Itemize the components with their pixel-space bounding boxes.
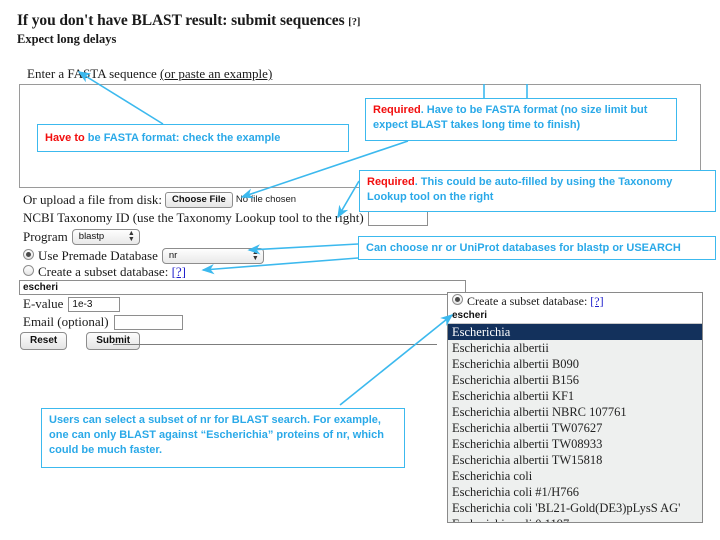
autocomplete-option[interactable]: Escherichia albertii B156 <box>448 372 702 388</box>
autocomplete-option[interactable]: Escherichia coli <box>448 468 702 484</box>
program-row: Programblastp▲▼ <box>23 229 140 245</box>
taxonomy-id-input[interactable] <box>368 211 428 226</box>
popup-subset-header: Create a subset database: [?] <box>448 293 702 309</box>
annotation-database-choice: Can choose nr or UniProt databases for b… <box>358 236 716 260</box>
annotation-required-taxonomy: Required. This could be auto-filled by u… <box>359 170 716 212</box>
program-select[interactable]: blastp▲▼ <box>72 229 140 245</box>
email-row: Email (optional) <box>23 314 183 330</box>
file-status-text: No file chosen <box>236 194 296 205</box>
page-title: If you don't have BLAST result: submit s… <box>17 12 360 30</box>
autocomplete-option[interactable]: Escherichia albertii B090 <box>448 356 702 372</box>
taxonomy-id-label: NCBI Taxonomy ID (use the Taxonomy Looku… <box>23 210 364 225</box>
taxonomy-id-row: NCBI Taxonomy ID (use the Taxonomy Looku… <box>23 210 428 226</box>
annotation-body-text: Users can select a subset of nr for BLAS… <box>49 414 384 456</box>
autocomplete-option[interactable]: Escherichia coli 'BL21-Gold(DE3)pLysS AG… <box>448 500 702 516</box>
annotation-strong-text: Required <box>367 176 415 188</box>
choose-file-button[interactable]: Choose File <box>165 192 233 208</box>
subset-help-link[interactable]: [?] <box>172 264 186 279</box>
popup-header-label: Create a subset database: <box>467 294 587 308</box>
evalue-input[interactable] <box>68 297 120 312</box>
annotation-strong-text: Have to <box>45 132 85 144</box>
radio-use-premade-database[interactable] <box>23 249 34 260</box>
premade-database-label: Use Premade Database <box>38 248 158 263</box>
popup-help-link[interactable]: [?] <box>590 294 603 308</box>
autocomplete-option[interactable]: Escherichia albertii KF1 <box>448 388 702 404</box>
updown-arrows-icon: ▲▼ <box>252 250 259 262</box>
annotation-fasta-format: Have to be FASTA format: check the examp… <box>37 124 349 152</box>
horizontal-divider <box>113 344 437 345</box>
program-label: Program <box>23 229 68 244</box>
autocomplete-option[interactable]: Escherichia albertii TW07627 <box>448 420 702 436</box>
annotation-body-text: Can choose nr or UniProt databases for b… <box>366 242 681 254</box>
radio-create-subset-database[interactable] <box>23 265 34 276</box>
autocomplete-option[interactable]: Escherichia albertii <box>448 340 702 356</box>
updown-arrows-icon: ▲▼ <box>128 231 135 243</box>
autocomplete-option[interactable]: Escherichia albertii TW15818 <box>448 452 702 468</box>
email-label: Email (optional) <box>23 314 109 329</box>
annotation-subset-explanation: Users can select a subset of nr for BLAS… <box>41 408 405 468</box>
autocomplete-option[interactable]: Escherichia albertii TW08933 <box>448 436 702 452</box>
evalue-row: E-value <box>23 296 120 312</box>
autocomplete-popup[interactable]: Create a subset database: [?] escheri Es… <box>447 292 703 523</box>
premade-database-row: Use Premade Databasenr▲▼ <box>23 248 264 264</box>
submit-button[interactable]: Submit <box>86 332 140 350</box>
reset-button[interactable]: Reset <box>20 332 67 350</box>
autocomplete-option[interactable]: Escherichia albertii NBRC 107761 <box>448 404 702 420</box>
fasta-sequence-label: Enter a FASTA sequence (or paste an exam… <box>27 66 272 82</box>
page-subtitle: Expect long delays <box>17 32 116 47</box>
file-upload-row: Or upload a file from disk:Choose FileNo… <box>23 192 296 208</box>
email-input[interactable] <box>114 315 183 330</box>
popup-query-input[interactable]: escheri <box>448 309 702 324</box>
autocomplete-option[interactable]: Escherichia <box>448 324 702 340</box>
radio-create-subset-database-popup[interactable] <box>452 294 463 305</box>
annotation-body-text: be FASTA format: check the example <box>85 132 281 144</box>
autocomplete-option[interactable]: Escherichia coli 0.1197 <box>448 516 702 523</box>
page-title-text: If you don't have BLAST result: submit s… <box>17 12 345 29</box>
database-select-value: nr <box>169 250 177 261</box>
blast-submission-page: If you don't have BLAST result: submit s… <box>0 0 720 540</box>
annotation-strong-text: Required <box>373 104 421 116</box>
program-select-value: blastp <box>79 231 104 242</box>
annotation-required-fasta: Required. Have to be FASTA format (no si… <box>365 98 677 141</box>
page-title-help-icon[interactable]: [?] <box>348 17 360 28</box>
database-select[interactable]: nr▲▼ <box>162 248 264 264</box>
subset-query-input[interactable] <box>19 280 466 295</box>
autocomplete-option[interactable]: Escherichia coli #1/H766 <box>448 484 702 500</box>
autocomplete-option-list[interactable]: EscherichiaEscherichia albertiiEscherich… <box>448 324 702 523</box>
subset-database-label: Create a subset database: <box>38 264 168 279</box>
subset-database-row: Create a subset database: [?] <box>23 264 186 280</box>
form-buttons-row: ResetSubmit <box>20 331 140 350</box>
paste-example-link[interactable]: (or paste an example) <box>160 66 272 81</box>
fasta-label-text: Enter a FASTA sequence <box>27 66 157 81</box>
evalue-label: E-value <box>23 296 63 311</box>
upload-label: Or upload a file from disk: <box>23 192 162 207</box>
